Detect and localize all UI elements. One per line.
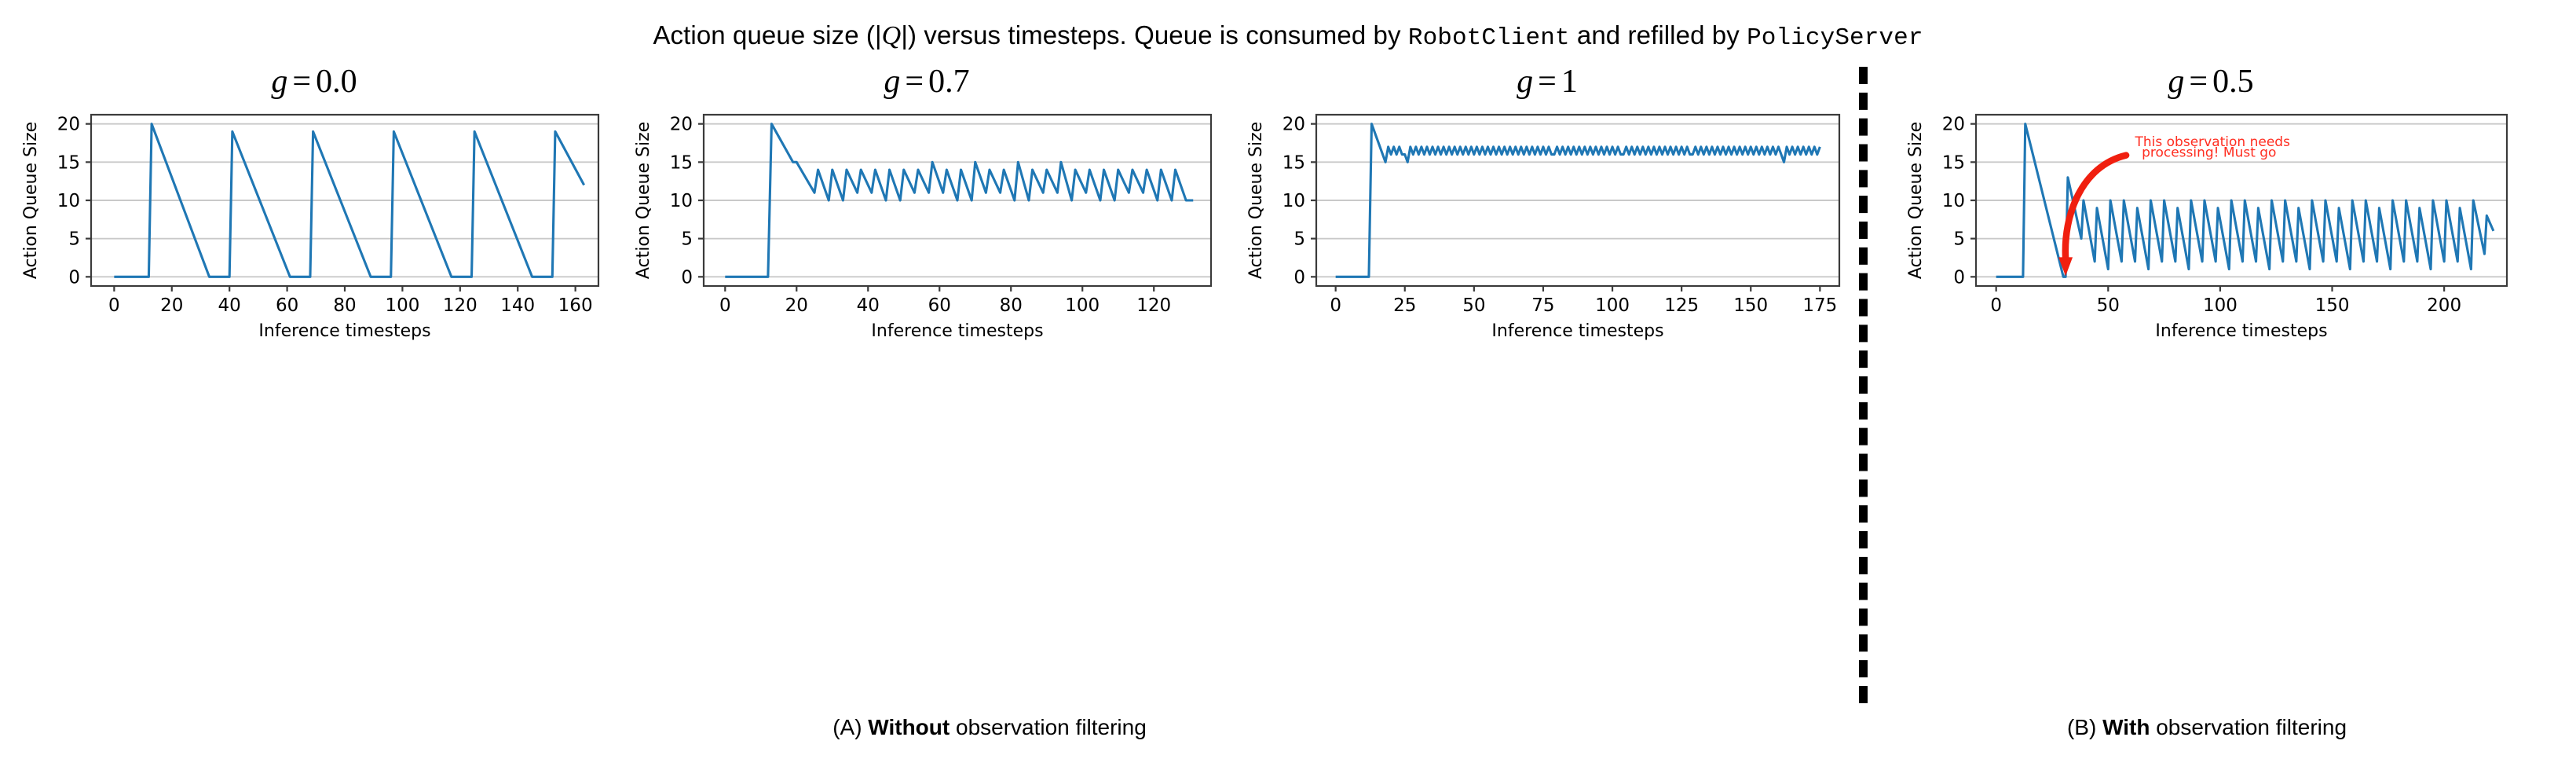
caption-a-suffix: observation filtering <box>950 715 1147 739</box>
annotation-text-line2: processing! Must go <box>2142 145 2276 161</box>
y-tick-label: 5 <box>68 229 80 250</box>
y-tick-label: 10 <box>1283 191 1305 211</box>
figure-title-part3: and refilled by <box>1570 20 1747 49</box>
chart-title-g-1: g=1 <box>1241 63 1853 101</box>
caption-a: (A) Without observation filtering <box>338 715 1641 740</box>
chart-title-eq: = <box>1533 64 1561 100</box>
x-tick-label: 150 <box>1733 295 1768 316</box>
x-tick-label: 125 <box>1664 295 1699 316</box>
y-axis-label: Action Queue Size <box>1906 122 1926 279</box>
caption-a-prefix: (A) <box>832 715 868 739</box>
chart-title-var: g <box>2168 64 2184 100</box>
chart-title-eq: = <box>2184 64 2212 100</box>
caption-b: (B) With observation filtering <box>1885 715 2529 740</box>
chart-svg-panel-g-0: 02040608010012014016005101520Inference t… <box>16 104 613 347</box>
x-tick-label: 120 <box>443 295 478 316</box>
chart-title-g-0: g=0.0 <box>16 63 613 101</box>
plot-area-g-07: 02040608010012005101520Inference timeste… <box>628 104 1225 347</box>
x-tick-label: 0 <box>108 295 120 316</box>
figure-title-part1: Action queue size (| <box>653 20 881 49</box>
x-tick-label: 20 <box>160 295 183 316</box>
y-tick-label: 15 <box>1942 152 1965 173</box>
y-tick-label: 10 <box>57 191 80 211</box>
y-tick-label: 15 <box>57 152 80 173</box>
x-tick-label: 0 <box>1330 295 1341 316</box>
x-tick-label: 100 <box>385 295 419 316</box>
x-tick-label: 25 <box>1393 295 1416 316</box>
y-axis-label: Action Queue Size <box>1246 122 1266 279</box>
plot-area-g-05: 05010015020005101520Inference timestepsA… <box>1901 104 2521 347</box>
y-tick-label: 5 <box>1953 229 1965 250</box>
x-tick-label: 100 <box>1595 295 1630 316</box>
x-axis-label: Inference timesteps <box>871 321 1043 341</box>
x-tick-label: 50 <box>2097 295 2120 316</box>
chart-title-var: g <box>884 64 900 100</box>
section-divider <box>1859 67 1868 703</box>
x-tick-label: 80 <box>333 295 356 316</box>
chart-panel-g-07: g=0.7 02040608010012005101520Inference t… <box>628 55 1225 676</box>
x-axis-label: Inference timesteps <box>1491 321 1663 341</box>
figure-title: Action queue size (|Q|) versus timesteps… <box>0 20 2576 52</box>
y-tick-label: 10 <box>670 191 693 211</box>
y-tick-label: 0 <box>68 267 80 288</box>
y-axis-label: Action Queue Size <box>634 122 653 279</box>
y-tick-label: 0 <box>1293 267 1305 288</box>
plot-area-g-0: 02040608010012014016005101520Inference t… <box>16 104 613 347</box>
figure-title-part2: |) versus timesteps. Queue is consumed b… <box>901 20 1408 49</box>
plot-area-g-1: 025507510012515017505101520Inference tim… <box>1241 104 1853 347</box>
x-tick-label: 150 <box>2315 295 2350 316</box>
chart-title-value: 0.7 <box>928 64 970 100</box>
chart-title-eq: = <box>900 64 928 100</box>
y-tick-label: 5 <box>681 229 693 250</box>
chart-svg-panel-g-05: 05010015020005101520Inference timestepsA… <box>1901 104 2521 347</box>
x-tick-label: 140 <box>500 295 535 316</box>
figure-title-policyserver: PolicyServer <box>1747 24 1923 52</box>
x-tick-label: 20 <box>785 295 808 316</box>
y-tick-label: 20 <box>57 115 80 135</box>
y-tick-label: 0 <box>681 267 693 288</box>
x-tick-label: 0 <box>719 295 731 316</box>
y-tick-label: 20 <box>670 115 693 135</box>
caption-b-prefix: (B) <box>2067 715 2102 739</box>
caption-a-bold: Without <box>868 715 950 739</box>
y-tick-label: 15 <box>670 152 693 173</box>
x-tick-label: 160 <box>558 295 593 316</box>
x-tick-label: 40 <box>218 295 241 316</box>
x-tick-label: 175 <box>1802 295 1837 316</box>
caption-b-suffix: observation filtering <box>2150 715 2347 739</box>
panel-row: g=0.0 02040608010012014016005101520Infer… <box>0 55 2576 684</box>
x-tick-label: 100 <box>2203 295 2238 316</box>
chart-panel-g-0: g=0.0 02040608010012014016005101520Infer… <box>16 55 613 676</box>
y-tick-label: 10 <box>1942 191 1965 211</box>
chart-title-eq: = <box>287 64 316 100</box>
x-tick-label: 200 <box>2427 295 2461 316</box>
caption-b-bold: With <box>2102 715 2150 739</box>
x-tick-label: 60 <box>928 295 951 316</box>
y-tick-label: 0 <box>1953 267 1965 288</box>
x-tick-label: 40 <box>857 295 880 316</box>
x-axis-label: Inference timesteps <box>258 321 430 341</box>
x-tick-label: 60 <box>276 295 298 316</box>
chart-title-g-05: g=0.5 <box>1901 63 2521 101</box>
chart-title-value: 0.5 <box>2212 64 2254 100</box>
y-axis-label: Action Queue Size <box>21 122 41 279</box>
y-tick-label: 15 <box>1283 152 1305 173</box>
chart-title-value: 0.0 <box>316 64 357 100</box>
chart-title-var: g <box>1517 64 1533 100</box>
figure-title-math-q: Q <box>882 21 902 50</box>
chart-svg-panel-g-07: 02040608010012005101520Inference timeste… <box>628 104 1225 347</box>
y-tick-label: 20 <box>1283 115 1305 135</box>
chart-panel-g-1: g=1 025507510012515017505101520Inference… <box>1241 55 1853 676</box>
chart-svg-panel-g-1: 025507510012515017505101520Inference tim… <box>1241 104 1853 347</box>
x-tick-label: 80 <box>1000 295 1023 316</box>
y-tick-label: 20 <box>1942 115 1965 135</box>
x-tick-label: 100 <box>1065 295 1100 316</box>
x-tick-label: 0 <box>1990 295 2002 316</box>
chart-title-var: g <box>271 64 287 100</box>
y-tick-label: 5 <box>1293 229 1305 250</box>
x-axis-label: Inference timesteps <box>2155 321 2327 341</box>
chart-panel-g-05: g=0.5 05010015020005101520Inference time… <box>1901 55 2521 676</box>
x-tick-label: 50 <box>1462 295 1485 316</box>
chart-title-value: 1 <box>1561 64 1578 100</box>
chart-title-g-07: g=0.7 <box>628 63 1225 101</box>
x-tick-label: 75 <box>1531 295 1554 316</box>
figure-title-robotclient: RobotClient <box>1408 24 1570 52</box>
x-tick-label: 120 <box>1136 295 1171 316</box>
figure-root: Action queue size (|Q|) versus timesteps… <box>0 0 2576 770</box>
